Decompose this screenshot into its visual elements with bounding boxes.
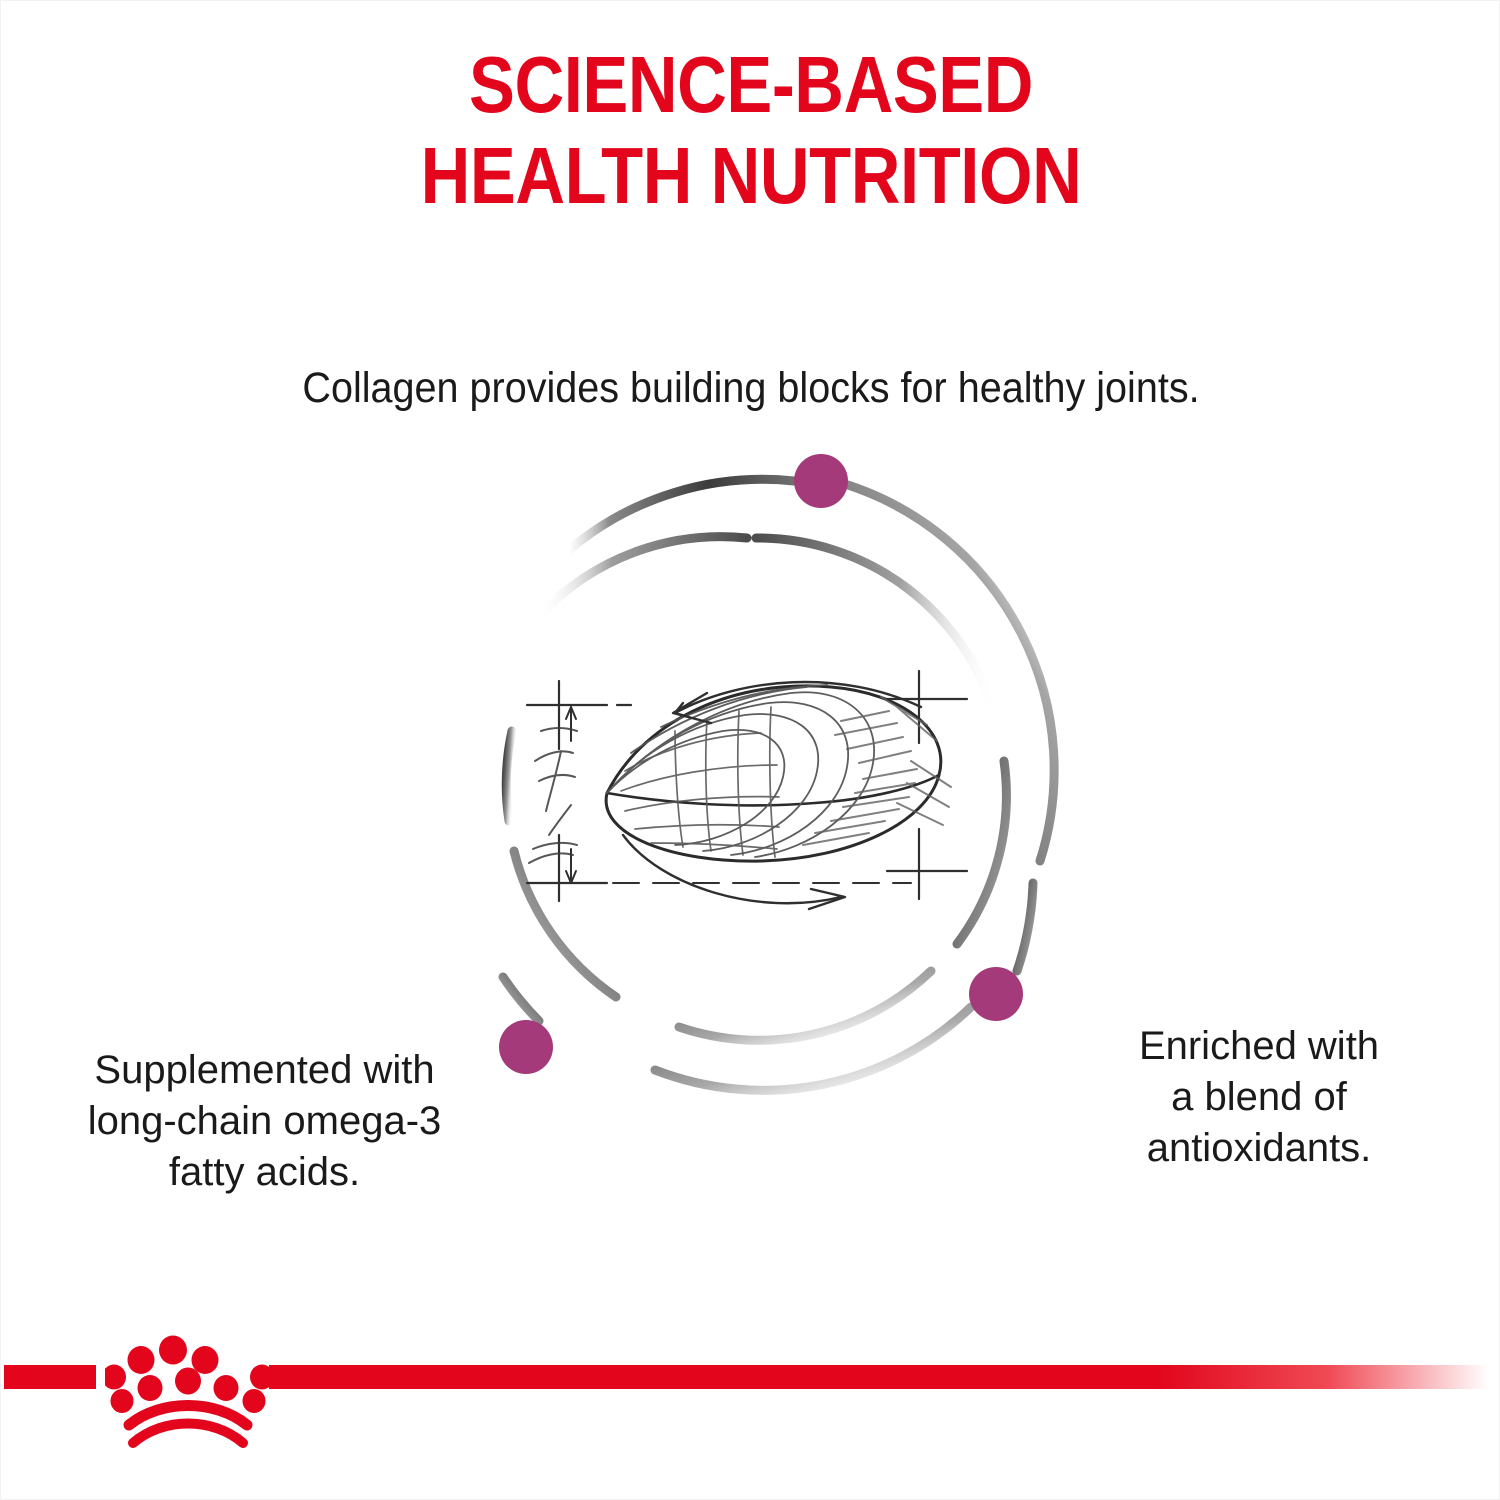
caption-omega3: Supplemented with long-chain omega-3 fat…	[37, 1045, 492, 1199]
node-dot-bottom-right	[969, 967, 1023, 1021]
page-title: SCIENCE-BASED HEALTH NUTRITION	[106, 39, 1396, 221]
royal-canin-crown-logo	[105, 1333, 271, 1449]
footer	[1, 1329, 1500, 1499]
node-dot-top	[794, 454, 848, 508]
node-dot-bottom-left	[499, 1020, 553, 1074]
footer-bar	[269, 1365, 1500, 1389]
caption-collagen: Collagen provides building blocks for he…	[61, 363, 1441, 415]
handwritten-annotation	[529, 728, 577, 863]
caption-antioxidants: Enriched with a blend of antioxidants.	[1059, 1021, 1459, 1175]
footer-bar-left-stub	[4, 1365, 96, 1389]
inner-ring	[506, 537, 1006, 1041]
kibble-mesh-rings	[621, 707, 779, 857]
kibble-diagram	[411, 431, 1101, 1151]
kibble-sketch	[527, 671, 967, 909]
crosshair-bottom-right	[887, 829, 967, 899]
dimension-arrows	[566, 707, 576, 883]
crosshair-top-left	[527, 681, 635, 749]
kibble-shading	[803, 697, 951, 845]
infographic-page: SCIENCE-BASED HEALTH NUTRITION Collagen …	[0, 0, 1500, 1500]
